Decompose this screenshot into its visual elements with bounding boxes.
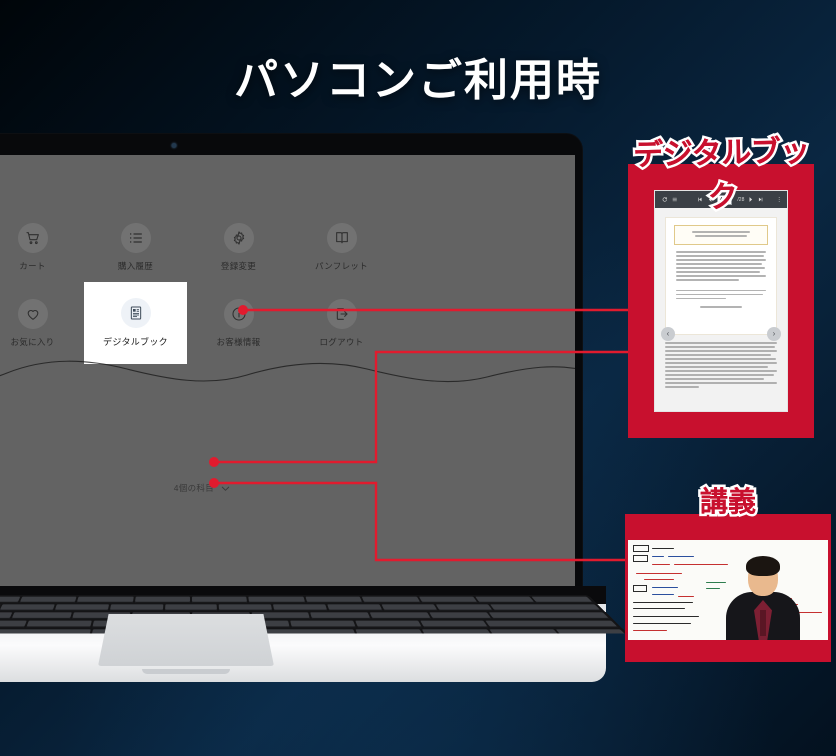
chevron-left-icon[interactable]: ‹	[661, 327, 675, 341]
icon-cell-purchase-history[interactable]: 購入履歴	[84, 210, 187, 284]
webcam-icon	[172, 143, 177, 148]
lecture-row: 0% 講座視聴はこちら 4個の科目	[0, 471, 287, 511]
lecturer-hair	[746, 556, 780, 576]
icon-cell-customer-info[interactable]: お客様情報	[187, 286, 290, 360]
keyboard-keys	[0, 595, 627, 633]
lecture-section-heading: サンプル講義（20日間）	[0, 439, 287, 455]
icon-grid: カート 購入履歴	[0, 210, 393, 364]
laptop-mockup: カート 購入履歴	[0, 134, 606, 682]
list-icon	[121, 223, 151, 253]
logout-icon	[327, 299, 357, 329]
lecture-badge: 講義	[625, 480, 831, 520]
lecture-video[interactable]	[628, 540, 828, 640]
highlighted-note-box	[674, 225, 768, 245]
laptop-front-notch	[142, 669, 230, 674]
icon-label: ログアウト	[319, 336, 363, 348]
lecturer-tie	[760, 610, 766, 636]
icon-label: お客様情報	[216, 336, 260, 348]
icon-label: お気に入り	[10, 336, 54, 348]
subject-count-label: 4個の科目	[174, 482, 214, 494]
page-body-text	[674, 251, 768, 308]
digital-book-icon	[121, 298, 151, 328]
digital-book-badge: デジタルブック	[623, 126, 821, 219]
laptop-screen: カート 購入履歴	[0, 155, 575, 586]
icon-cell-cart[interactable]: カート	[0, 210, 84, 284]
icon-cell-logout[interactable]: ログアウト	[290, 286, 393, 360]
lecture-callout: 講義 講義	[625, 514, 831, 662]
icon-label: 登録変更	[221, 260, 256, 272]
chevron-right-icon[interactable]: ›	[767, 327, 781, 341]
lecturer	[724, 554, 802, 640]
info-circle-icon	[224, 299, 254, 329]
trackpad[interactable]	[98, 614, 274, 666]
icon-cell-digital-book[interactable]: デジタルブック	[84, 282, 187, 364]
book-open-icon	[327, 223, 357, 253]
subject-count-toggle[interactable]: 4個の科目	[174, 482, 231, 494]
icon-label: デジタルブック	[103, 335, 168, 348]
digital-book-callout: 4 /28	[628, 164, 814, 438]
icon-cell-pamphlet[interactable]: パンフレット	[290, 210, 393, 284]
icon-cell-favorites[interactable]: お気に入り	[0, 286, 84, 360]
icon-cell-registration-change[interactable]: 登録変更	[187, 210, 290, 284]
digital-book-lower-text	[665, 342, 777, 388]
chevron-down-icon	[220, 483, 231, 494]
digital-book-page	[665, 217, 777, 335]
digital-book-viewer: 4 /28	[654, 190, 788, 412]
icon-label: カート	[19, 260, 45, 272]
heart-icon	[18, 299, 48, 329]
lecture-section: サンプル講義（20日間） 0% 講座視聴はこちら 4個の科目	[0, 439, 287, 511]
page-title: パソコンご利用時	[0, 44, 836, 108]
gear-icon	[224, 223, 254, 253]
shopping-cart-icon	[18, 223, 48, 253]
wave-divider	[0, 357, 575, 389]
laptop-lid: カート 購入履歴	[0, 134, 582, 586]
lecture-callout-bar	[625, 644, 831, 662]
laptop-keyboard-deck	[0, 586, 606, 682]
icon-label: パンフレット	[315, 260, 368, 272]
icon-label: 購入履歴	[118, 260, 153, 272]
